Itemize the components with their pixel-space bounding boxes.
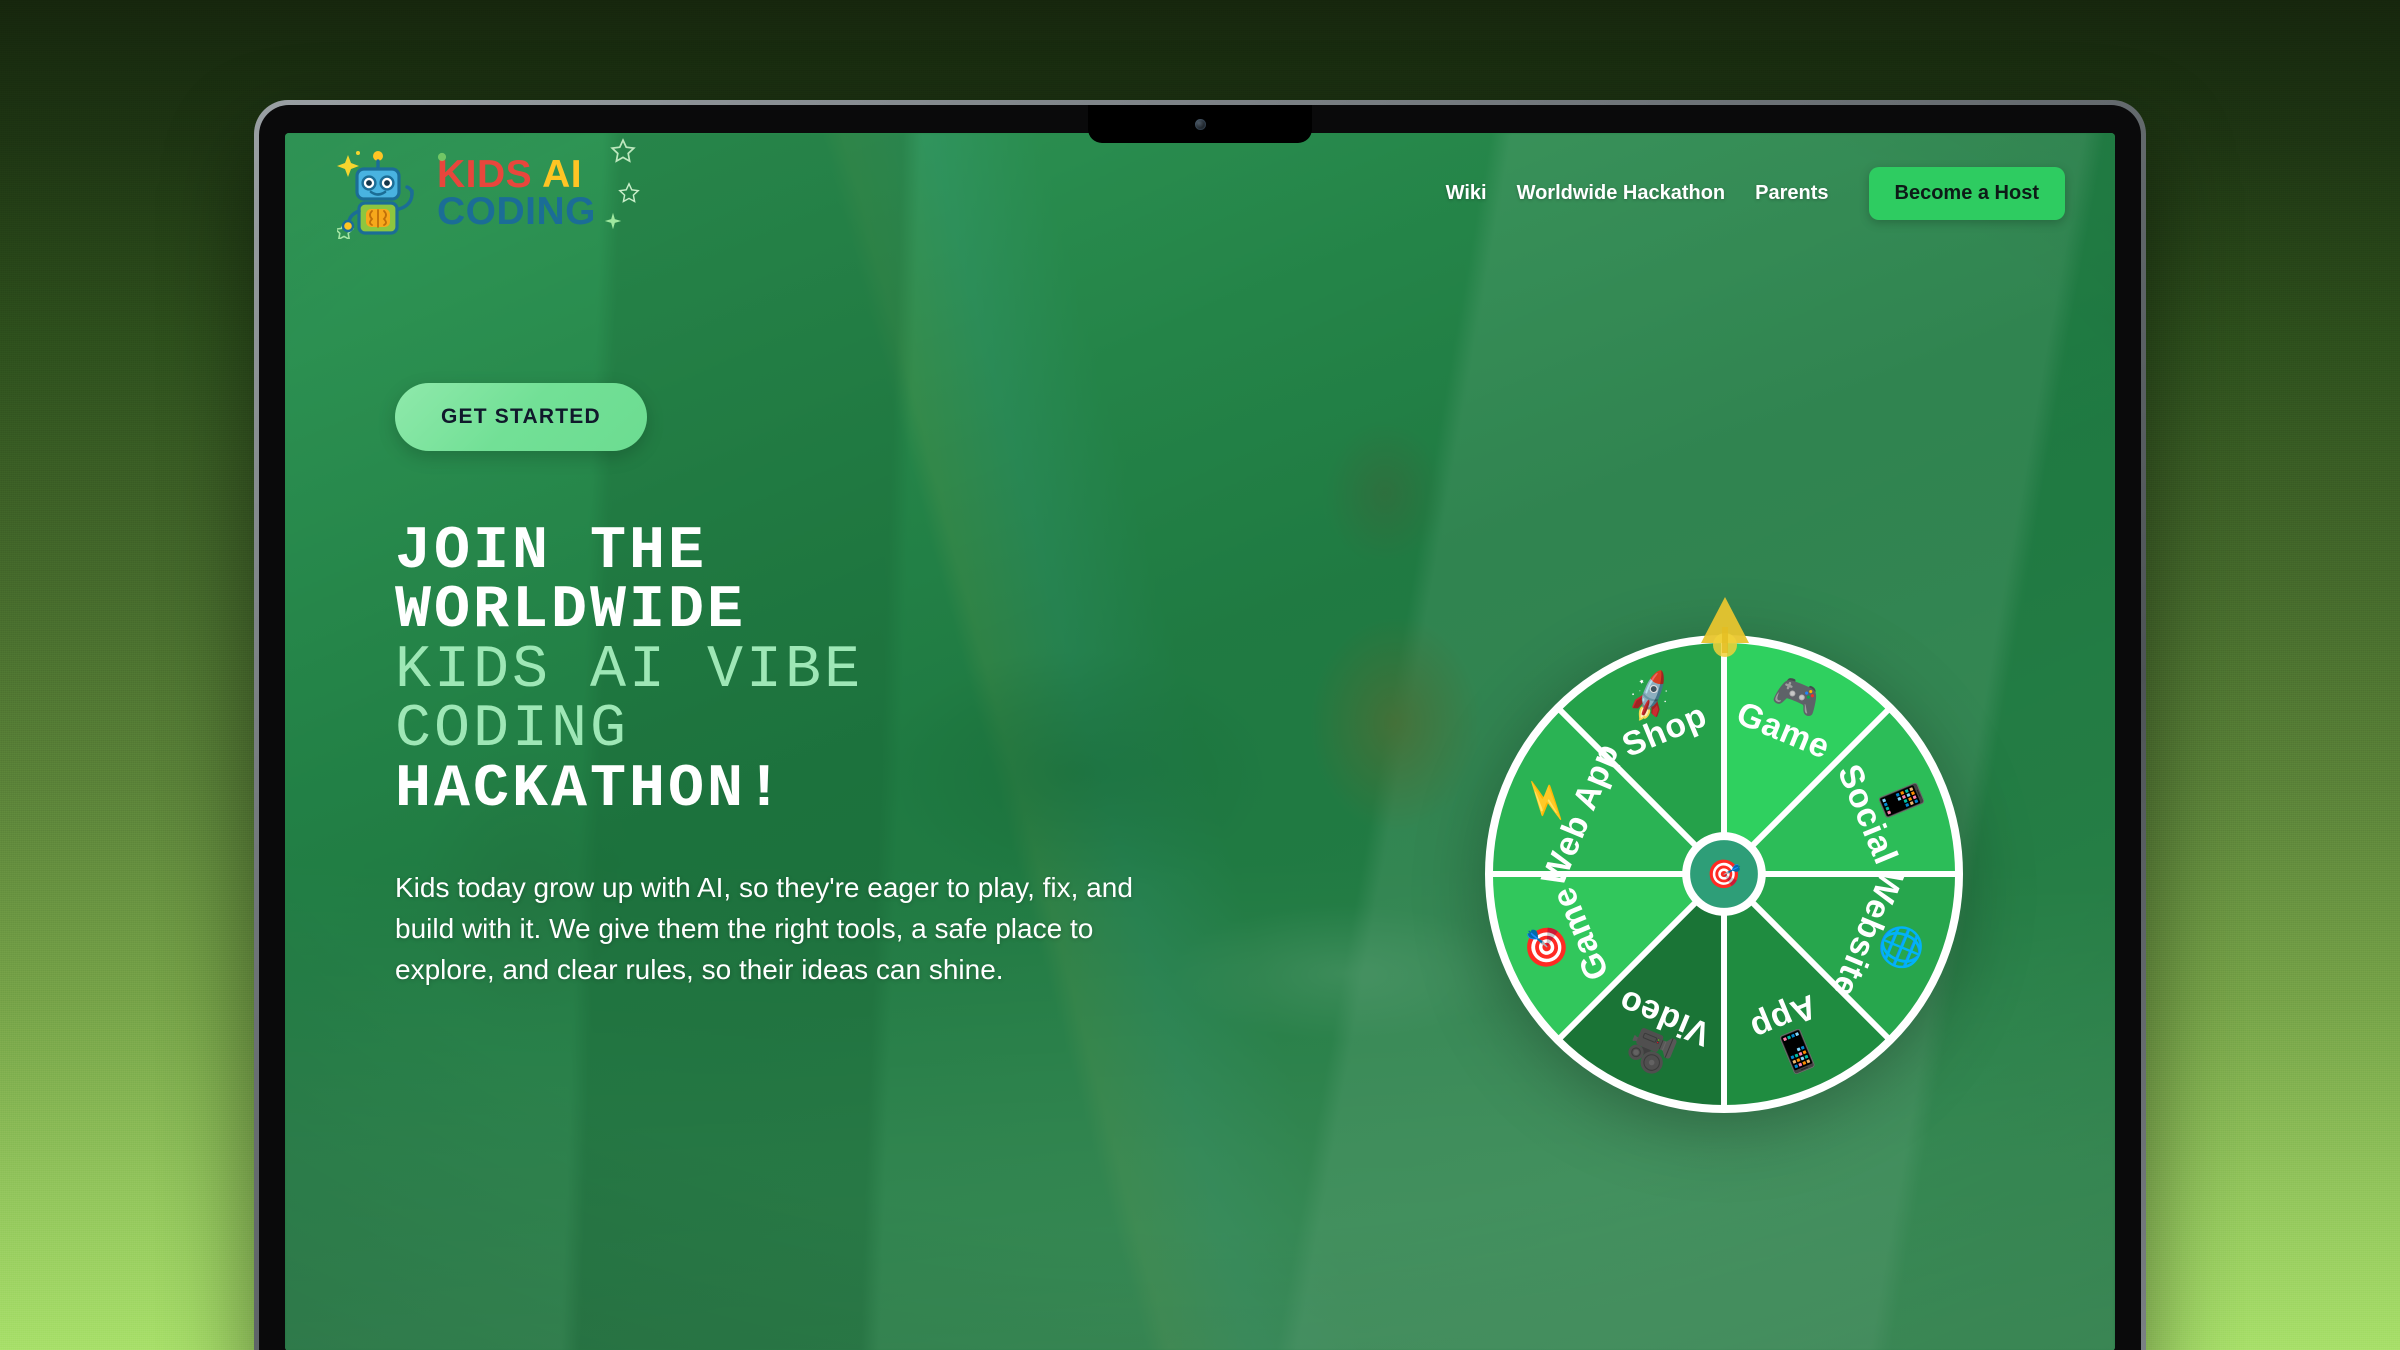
star-outline-icon-2 xyxy=(618,182,640,204)
wheel-svg[interactable]: Game🎮Social📱Website🌐App📱Video🎥Game🎯Web A… xyxy=(1485,635,1963,1113)
headline-line-1: JOIN THE xyxy=(395,523,1235,582)
headline-line-3: KIDS AI VIBE xyxy=(395,642,1235,701)
headline-line-5: HACKATHON! xyxy=(395,761,1235,820)
wheel-hub-emoji: 🎯 xyxy=(1707,859,1742,890)
get-started-button[interactable]: GET STARTED xyxy=(395,383,647,451)
logo-line-1: KIDS AI xyxy=(437,156,596,193)
webcam-icon xyxy=(1195,119,1206,130)
headline-line-4: CODING xyxy=(395,701,1235,760)
become-a-host-button[interactable]: Become a Host xyxy=(1869,167,2066,220)
sparkle-icon xyxy=(602,210,624,232)
logo-line-2: CODING xyxy=(437,193,596,230)
laptop-mockup: KIDS AI CODING xyxy=(254,100,2146,1350)
nav-link-wiki[interactable]: Wiki xyxy=(1442,176,1491,211)
hero-headline: JOIN THE WORLDWIDE KIDS AI VIBE CODING H… xyxy=(395,523,1235,820)
site-logo[interactable]: KIDS AI CODING xyxy=(337,147,596,239)
logo-wordmark: KIDS AI CODING xyxy=(437,156,596,231)
logo-coding-text: CODING xyxy=(437,190,596,233)
hero-paragraph: Kids today grow up with AI, so they're e… xyxy=(395,868,1190,991)
nav-link-parents[interactable]: Parents xyxy=(1751,176,1832,211)
site-header: KIDS AI CODING xyxy=(285,133,2115,253)
website-screen: KIDS AI CODING xyxy=(285,133,2115,1350)
nav-link-worldwide-hackathon[interactable]: Worldwide Hackathon xyxy=(1513,176,1730,211)
main-navigation: Wiki Worldwide Hackathon Parents Become … xyxy=(1442,167,2065,220)
robot-icon xyxy=(337,147,423,239)
hero-section: GET STARTED JOIN THE WORLDWIDE KIDS AI V… xyxy=(395,383,1235,991)
laptop-notch xyxy=(1088,105,1312,143)
star-outline-icon xyxy=(610,138,636,164)
prize-wheel[interactable]: Game🎮Social📱Website🌐App📱Video🎥Game🎯Web A… xyxy=(1475,593,1975,1113)
laptop-bezel: KIDS AI CODING xyxy=(259,105,2141,1350)
wheel-pointer-icon xyxy=(1696,593,1754,663)
headline-line-2: WORLDWIDE xyxy=(395,582,1235,641)
